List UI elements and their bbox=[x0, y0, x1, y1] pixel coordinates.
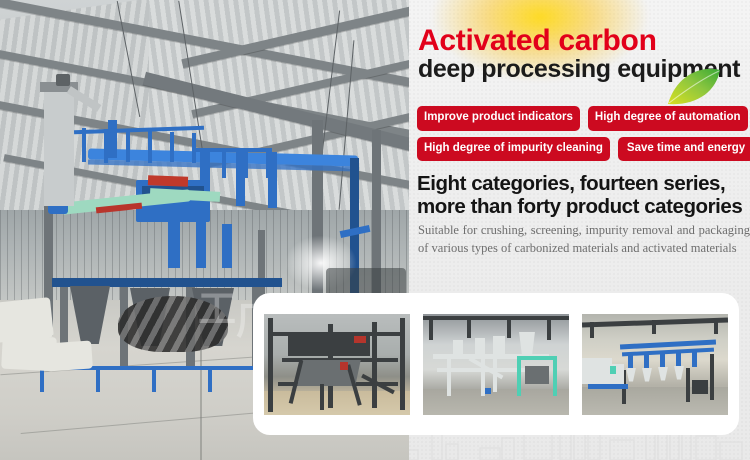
gallery-thumbnail-2[interactable] bbox=[423, 314, 569, 415]
badge-save-time-and-energy[interactable]: Save time and energy bbox=[618, 137, 750, 162]
headline-primary: Activated carbon bbox=[418, 26, 748, 56]
badge-high-degree-of-automation[interactable]: High degree of automation bbox=[588, 106, 748, 131]
subheadline: Eight categories, fourteen series, more … bbox=[417, 172, 750, 218]
leaf-icon bbox=[666, 68, 722, 106]
subheadline-line-1: Eight categories, fourteen series, bbox=[417, 172, 750, 195]
gallery-thumbnail-3[interactable] bbox=[582, 314, 728, 415]
gallery-thumbnail-1[interactable] bbox=[264, 314, 410, 415]
product-banner: 工 厂 Activated carbon deep processing equ… bbox=[0, 0, 750, 460]
feature-badge-group: Improve product indicators High degree o… bbox=[417, 106, 749, 167]
subheadline-line-2: more than forty product categories bbox=[417, 195, 750, 218]
badge-high-degree-of-impurity-cleaning[interactable]: High degree of impurity cleaning bbox=[417, 137, 610, 162]
feature-badge-row: High degree of impurity cleaning Save ti… bbox=[417, 137, 749, 162]
feature-badge-row: Improve product indicators High degree o… bbox=[417, 106, 749, 131]
badge-improve-product-indicators[interactable]: Improve product indicators bbox=[417, 106, 580, 131]
description-text: Suitable for crushing, screening, impuri… bbox=[418, 222, 750, 258]
gallery-card bbox=[253, 293, 739, 435]
